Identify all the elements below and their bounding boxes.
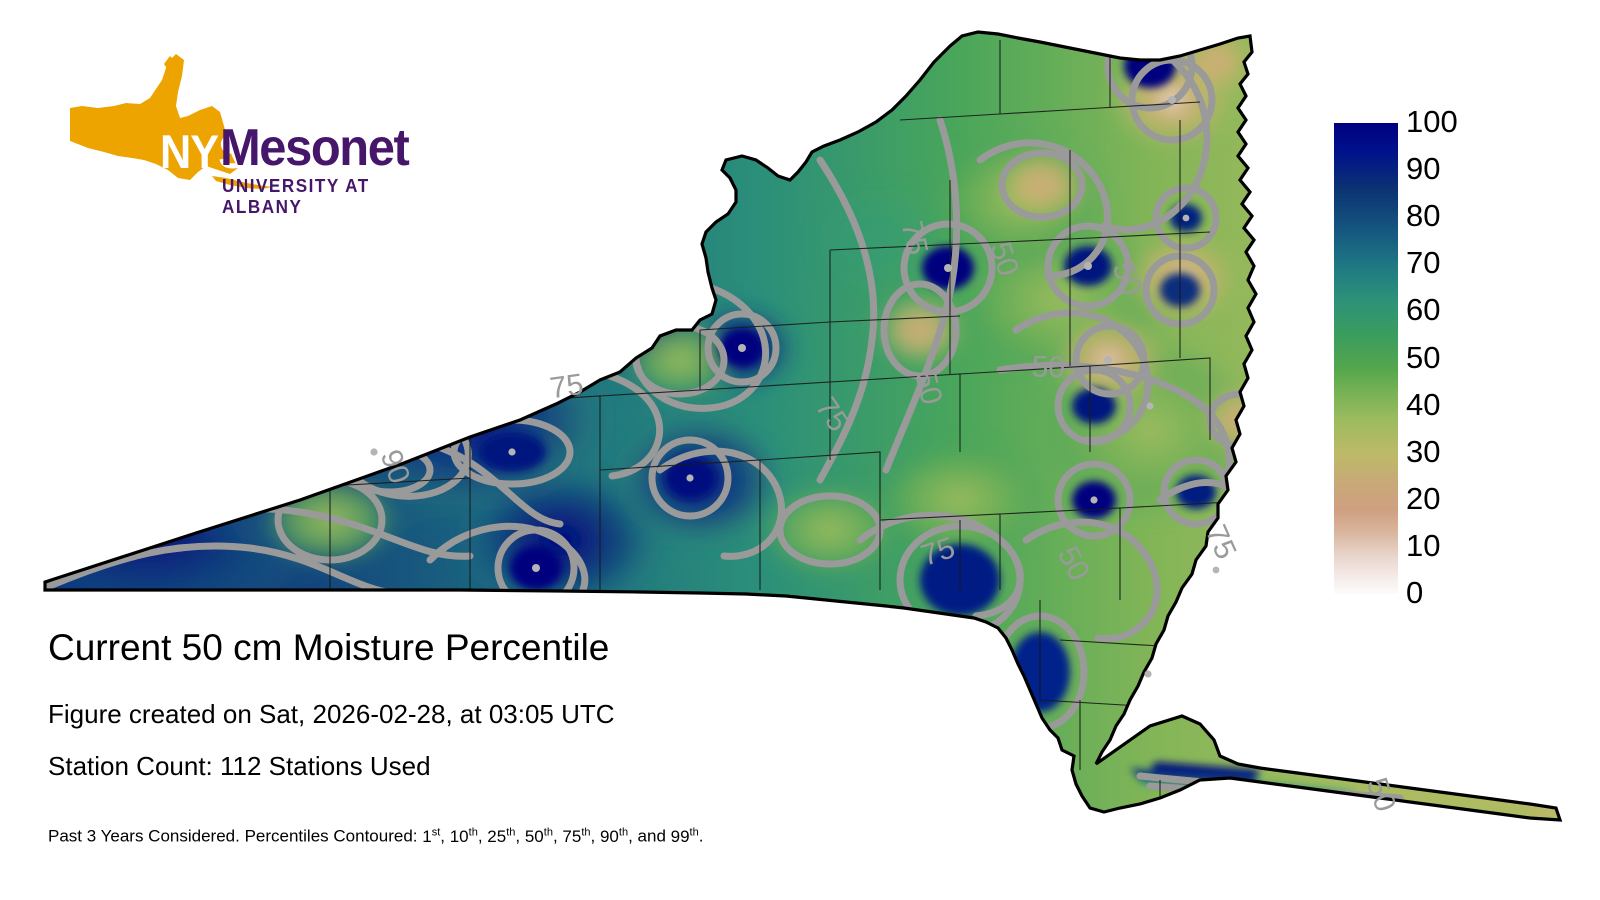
contour-label-50-11: 50 xyxy=(1360,773,1402,816)
contour-label-75-3: 75 xyxy=(548,368,586,405)
footnote-percentile-90: 90th xyxy=(600,827,628,846)
colorbar-gradient xyxy=(1334,123,1398,594)
station-count-label: Station Count: 112 Stations Used xyxy=(48,752,431,781)
footnote-percentile-99: 99th xyxy=(671,827,699,846)
colorbar-tick-50: 50 xyxy=(1406,342,1440,373)
colorbar-tick-80: 80 xyxy=(1406,200,1440,231)
colorbar-tick-0: 0 xyxy=(1406,577,1423,608)
footnote-percentile-75: 75th xyxy=(562,827,590,846)
colorbar-tick-10: 10 xyxy=(1406,530,1440,561)
colorbar-tick-30: 30 xyxy=(1406,436,1440,467)
footnote-percentile-25: 25th xyxy=(487,827,515,846)
ordinal-suffix: st xyxy=(432,826,441,838)
contour-label-50-7: 50 xyxy=(1031,350,1066,384)
ordinal-suffix: th xyxy=(581,826,590,838)
colorbar-tick-labels: 1009080706050403020100 xyxy=(1406,100,1526,620)
creation-timestamp: Figure created on Sat, 2026-02-28, at 03… xyxy=(48,700,615,729)
footnote: Past 3 Years Considered. Percentiles Con… xyxy=(48,826,703,847)
colorbar-tick-90: 90 xyxy=(1406,153,1440,184)
figure-canvas: NYS Mesonet UNIVERSITY AT ALBANY xyxy=(0,0,1600,900)
ordinal-suffix: th xyxy=(544,826,553,838)
ordinal-suffix: th xyxy=(619,826,628,838)
figure-title: Current 50 cm Moisture Percentile xyxy=(48,628,609,669)
ordinal-suffix: th xyxy=(690,826,699,838)
colorbar-tick-40: 40 xyxy=(1406,389,1440,420)
colorbar-tick-100: 100 xyxy=(1406,106,1458,137)
ordinal-suffix: th xyxy=(506,826,515,838)
footnote-percentile-50: 50th xyxy=(525,827,553,846)
colorbar-tick-20: 20 xyxy=(1406,483,1440,514)
ordinal-suffix: th xyxy=(469,826,478,838)
footnote-percentile-1: 1st xyxy=(422,827,440,846)
colorbar-tick-70: 70 xyxy=(1406,247,1440,278)
footnote-percentile-10: 10th xyxy=(450,827,478,846)
colorbar-tick-60: 60 xyxy=(1406,294,1440,325)
contour-label-75-0: 75 xyxy=(895,218,934,258)
colorbar xyxy=(1334,123,1398,594)
